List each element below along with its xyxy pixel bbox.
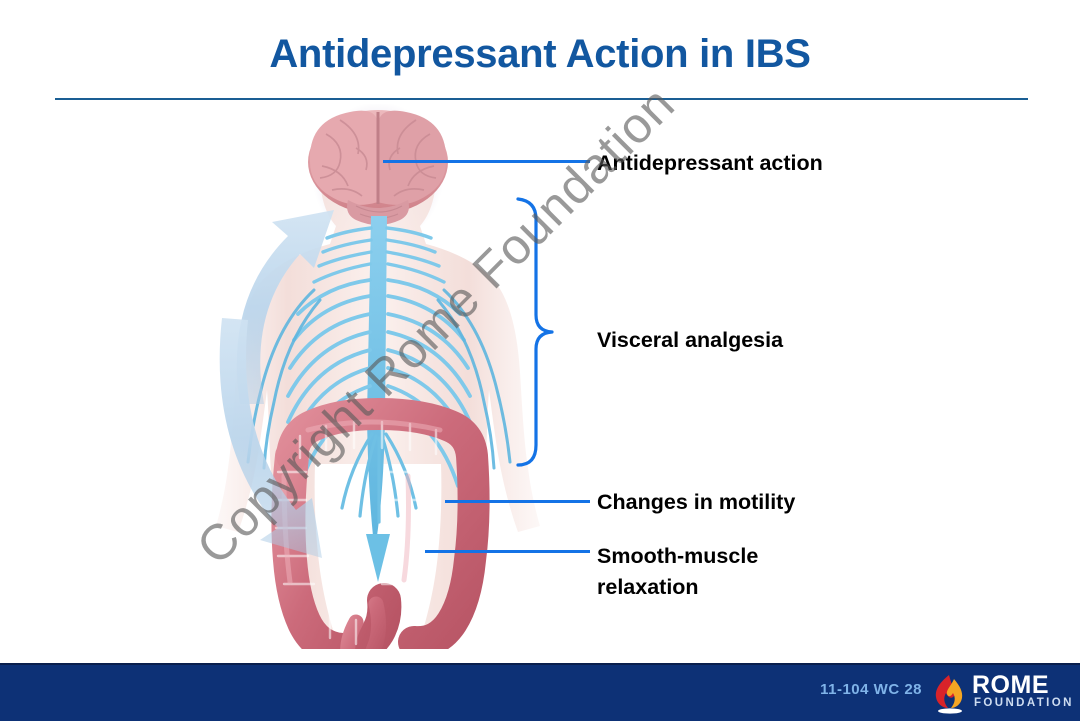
callout-visceral-analgesia: Visceral analgesia bbox=[597, 325, 783, 356]
leader-line-antidepressant bbox=[383, 160, 590, 163]
leader-line-smooth-muscle bbox=[425, 550, 590, 553]
flame-icon bbox=[932, 673, 968, 720]
page-title: Antidepressant Action in IBS bbox=[0, 32, 1080, 77]
callout-changes-in-motility: Changes in motility bbox=[597, 487, 795, 518]
callout-smooth-muscle-relaxation: Smooth-muscle relaxation bbox=[597, 541, 758, 602]
logo-subtitle: FOUNDATION bbox=[974, 697, 1074, 709]
leader-line-motility bbox=[445, 500, 590, 503]
callout-antidepressant-action: Antidepressant action bbox=[597, 148, 823, 179]
brace-visceral-analgesia bbox=[515, 196, 555, 468]
title-divider bbox=[55, 98, 1028, 100]
slide: Antidepressant Action in IBS bbox=[0, 0, 1080, 721]
slide-code: 11-104 WC 28 bbox=[820, 681, 922, 698]
footer-bar: 11-104 WC 28 ROME FOUNDATION bbox=[0, 663, 1080, 721]
rome-foundation-logo: ROME FOUNDATION bbox=[930, 671, 1072, 717]
logo-wordmark: ROME bbox=[972, 673, 1049, 698]
